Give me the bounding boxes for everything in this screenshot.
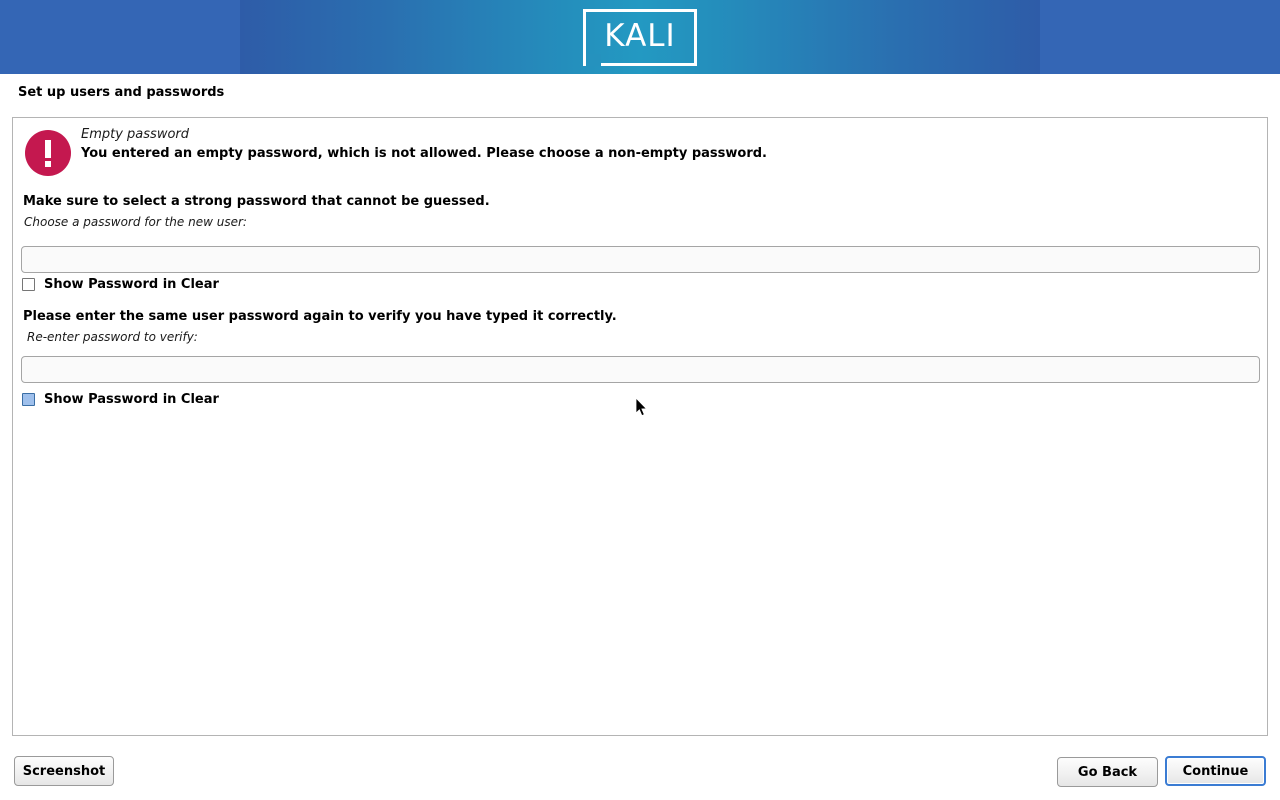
- error-message: You entered an empty password, which is …: [81, 146, 767, 161]
- show-password-clear-label-2: Show Password in Clear: [44, 392, 219, 407]
- kali-logo: KALI: [583, 9, 697, 66]
- error-title: Empty password: [81, 127, 189, 142]
- password-input[interactable]: [21, 246, 1260, 273]
- continue-button[interactable]: Continue: [1165, 756, 1266, 786]
- verify-field-label: Re-enter password to verify:: [27, 330, 198, 344]
- show-password-clear-row-1[interactable]: Show Password in Clear: [22, 277, 219, 292]
- page-title: Set up users and passwords: [18, 85, 224, 100]
- go-back-button[interactable]: Go Back: [1057, 757, 1158, 787]
- error-exclamation-icon: [25, 130, 71, 176]
- screenshot-button[interactable]: Screenshot: [14, 756, 114, 786]
- show-password-clear-row-2[interactable]: Show Password in Clear: [22, 392, 219, 407]
- kali-logo-wordmark: KALI: [583, 9, 697, 66]
- password-heading: Make sure to select a strong password th…: [23, 194, 490, 209]
- verify-heading: Please enter the same user password agai…: [23, 309, 617, 324]
- exclamation-bar: [45, 140, 51, 158]
- verify-password-input[interactable]: [21, 356, 1260, 383]
- exclamation-dot: [45, 161, 51, 167]
- show-password-clear-checkbox-1[interactable]: [22, 278, 35, 291]
- show-password-clear-label-1: Show Password in Clear: [44, 277, 219, 292]
- password-field-label: Choose a password for the new user:: [24, 215, 247, 229]
- error-banner: Empty password You entered an empty pass…: [13, 118, 1267, 184]
- content-panel: Empty password You entered an empty pass…: [12, 117, 1268, 736]
- installer-banner: KALI: [0, 0, 1280, 74]
- show-password-clear-checkbox-2[interactable]: [22, 393, 35, 406]
